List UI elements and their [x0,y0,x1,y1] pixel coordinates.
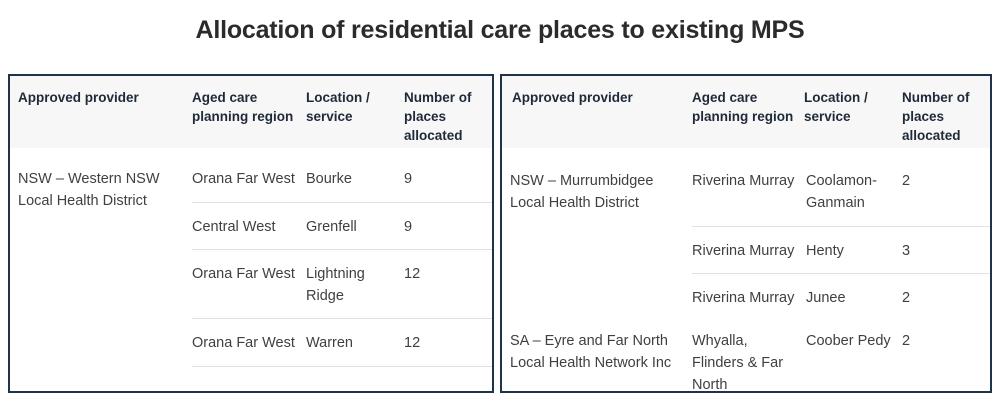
cell-places-allocated: 9 [404,216,474,238]
row-divider [192,202,492,203]
cell-location-service: Grenfell [306,216,394,238]
cell-planning-region: Whyalla, Flinders & Far North [692,330,798,396]
provider-cell: SA – Eyre and Far North Local Health Net… [510,330,690,374]
right-table-body: NSW – Murrumbidgee Local Health District… [502,148,990,391]
provider-cell: NSW – Western NSW Local Health District [18,168,186,212]
row-divider [192,249,492,250]
cell-places-allocated: 12 [404,263,474,285]
cell-location-service: Warren [306,332,394,354]
cell-location-service: Lightning Ridge [306,263,394,307]
row-divider [692,273,990,274]
left-table-header-row: Approved provider Aged care planning reg… [10,76,492,148]
right-table-header-row: Approved provider Aged care planning reg… [502,76,990,148]
provider-cell: NSW – Murrumbidgee Local Health District [510,170,690,214]
cell-planning-region: Orana Far West [192,263,300,285]
tables-area: Approved provider Aged care planning reg… [8,74,992,394]
column-header-location-service: Location / service [804,88,894,126]
row-divider [692,226,990,227]
page-title: Allocation of residential care places to… [0,14,1000,46]
cell-places-allocated: 2 [902,330,972,352]
column-header-number-of-places-allocated: Number of places allocated [404,88,488,145]
right-allocation-table: Approved provider Aged care planning reg… [500,74,992,393]
left-allocation-table: Approved provider Aged care planning reg… [8,74,494,393]
cell-planning-region: Riverina Murray [692,170,798,192]
cell-places-allocated: 12 [404,332,474,354]
left-table-body: NSW – Western NSW Local Health District … [10,148,492,391]
cell-location-service: Junee [806,287,898,309]
cell-places-allocated: 3 [902,240,972,262]
row-divider [192,366,492,367]
cell-location-service: Coober Pedy [806,330,898,352]
row-divider [192,318,492,319]
cell-places-allocated: 2 [902,287,972,309]
column-header-aged-care-planning-region: Aged care planning region [192,88,298,126]
cell-location-service: Coolamon-Ganmain [806,170,898,214]
cell-planning-region: Central West [192,216,300,238]
column-header-approved-provider: Approved provider [512,88,682,107]
column-header-location-service: Location / service [306,88,396,126]
cell-planning-region: Riverina Murray [692,287,798,309]
column-header-aged-care-planning-region: Aged care planning region [692,88,796,126]
column-header-approved-provider: Approved provider [18,88,188,107]
cell-planning-region: Orana Far West [192,332,300,354]
column-header-number-of-places-allocated: Number of places allocated [902,88,986,145]
cell-planning-region: Orana Far West [192,168,300,190]
cell-location-service: Bourke [306,168,394,190]
cell-planning-region: Riverina Murray [692,240,798,262]
cell-places-allocated: 2 [902,170,972,192]
cell-places-allocated: 9 [404,168,474,190]
cell-location-service: Henty [806,240,898,262]
